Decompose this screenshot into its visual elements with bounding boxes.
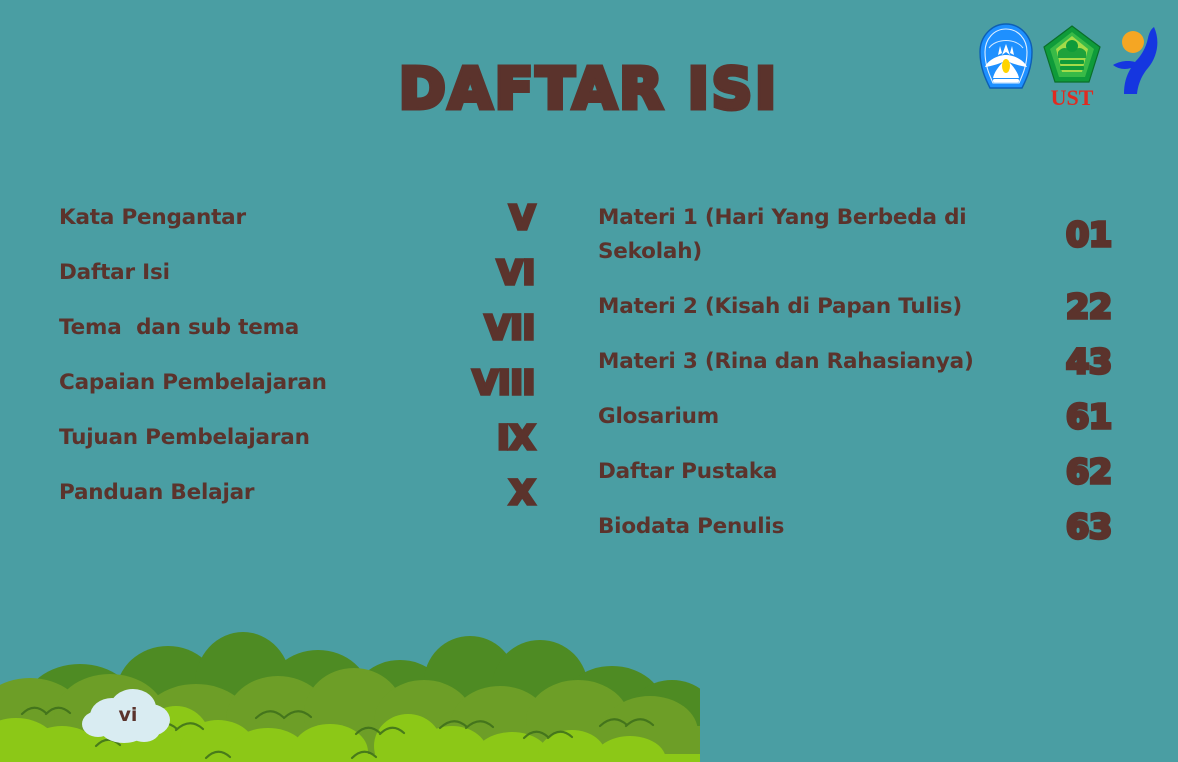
- table-of-contents: Kata Pengantar V Daftar Isi VI Tema dan …: [0, 190, 1178, 554]
- toc-entry[interactable]: Glosarium 61: [598, 389, 1112, 444]
- toc-entry-page: 61: [1052, 400, 1112, 433]
- toc-entry[interactable]: Materi 3 (Rina dan Rahasianya) 43: [598, 334, 1112, 389]
- toc-entry-page: 62: [1052, 455, 1112, 488]
- toc-entry[interactable]: Tema dan sub tema VII: [59, 300, 535, 355]
- toc-entry-page: 43: [1052, 345, 1112, 378]
- toc-entry-label: Panduan Belajar: [59, 476, 475, 509]
- page-title: DAFTAR ISI: [0, 62, 1178, 118]
- toc-entry[interactable]: Capaian Pembelajaran VIII: [59, 355, 535, 410]
- toc-entry[interactable]: Tujuan Pembelajaran IX: [59, 410, 535, 465]
- toc-column-left: Kata Pengantar V Daftar Isi VI Tema dan …: [0, 190, 545, 554]
- toc-entry[interactable]: Panduan Belajar X: [59, 465, 535, 520]
- toc-entry-page: 01: [1052, 218, 1112, 251]
- toc-entry[interactable]: Kata Pengantar V: [59, 190, 535, 245]
- toc-entry-page: IX: [475, 421, 535, 454]
- toc-page: UST DAFTAR ISI Kata Pengantar V Daftar I…: [0, 0, 1178, 762]
- toc-entry-label: Tema dan sub tema: [59, 311, 475, 344]
- toc-entry-label: Materi 2 (Kisah di Papan Tulis): [598, 290, 1010, 323]
- toc-entry-label: Materi 1 (Hari Yang Berbeda di Sekolah): [598, 201, 1010, 268]
- toc-entry-page: VII: [475, 311, 535, 344]
- page-number: vi: [78, 706, 178, 725]
- page-number-cloud: vi: [78, 686, 178, 748]
- toc-entry-page: V: [475, 201, 535, 234]
- toc-entry-label: Daftar Isi: [59, 256, 475, 289]
- toc-entry-label: Tujuan Pembelajaran: [59, 421, 475, 454]
- toc-entry-label: Capaian Pembelajaran: [59, 366, 473, 399]
- toc-entry[interactable]: Materi 2 (Kisah di Papan Tulis) 22: [598, 279, 1112, 334]
- toc-entry-label: Glosarium: [598, 400, 1010, 433]
- toc-entry[interactable]: Biodata Penulis 63: [598, 499, 1112, 554]
- toc-entry-page: VIII: [473, 366, 535, 399]
- toc-entry-label: Daftar Pustaka: [598, 455, 1010, 488]
- toc-entry-page: X: [475, 476, 535, 509]
- toc-entry-label: Materi 3 (Rina dan Rahasianya): [598, 345, 1010, 378]
- toc-column-right: Materi 1 (Hari Yang Berbeda di Sekolah) …: [545, 190, 1178, 554]
- toc-entry[interactable]: Materi 1 (Hari Yang Berbeda di Sekolah) …: [598, 190, 1112, 279]
- toc-entry[interactable]: Daftar Pustaka 62: [598, 444, 1112, 499]
- toc-entry-label: Kata Pengantar: [59, 201, 475, 234]
- toc-entry-label: Biodata Penulis: [598, 510, 1010, 543]
- toc-entry-page: VI: [475, 256, 535, 289]
- toc-entry-page: 63: [1052, 510, 1112, 543]
- toc-entry[interactable]: Daftar Isi VI: [59, 245, 535, 300]
- toc-entry-page: 22: [1052, 290, 1112, 323]
